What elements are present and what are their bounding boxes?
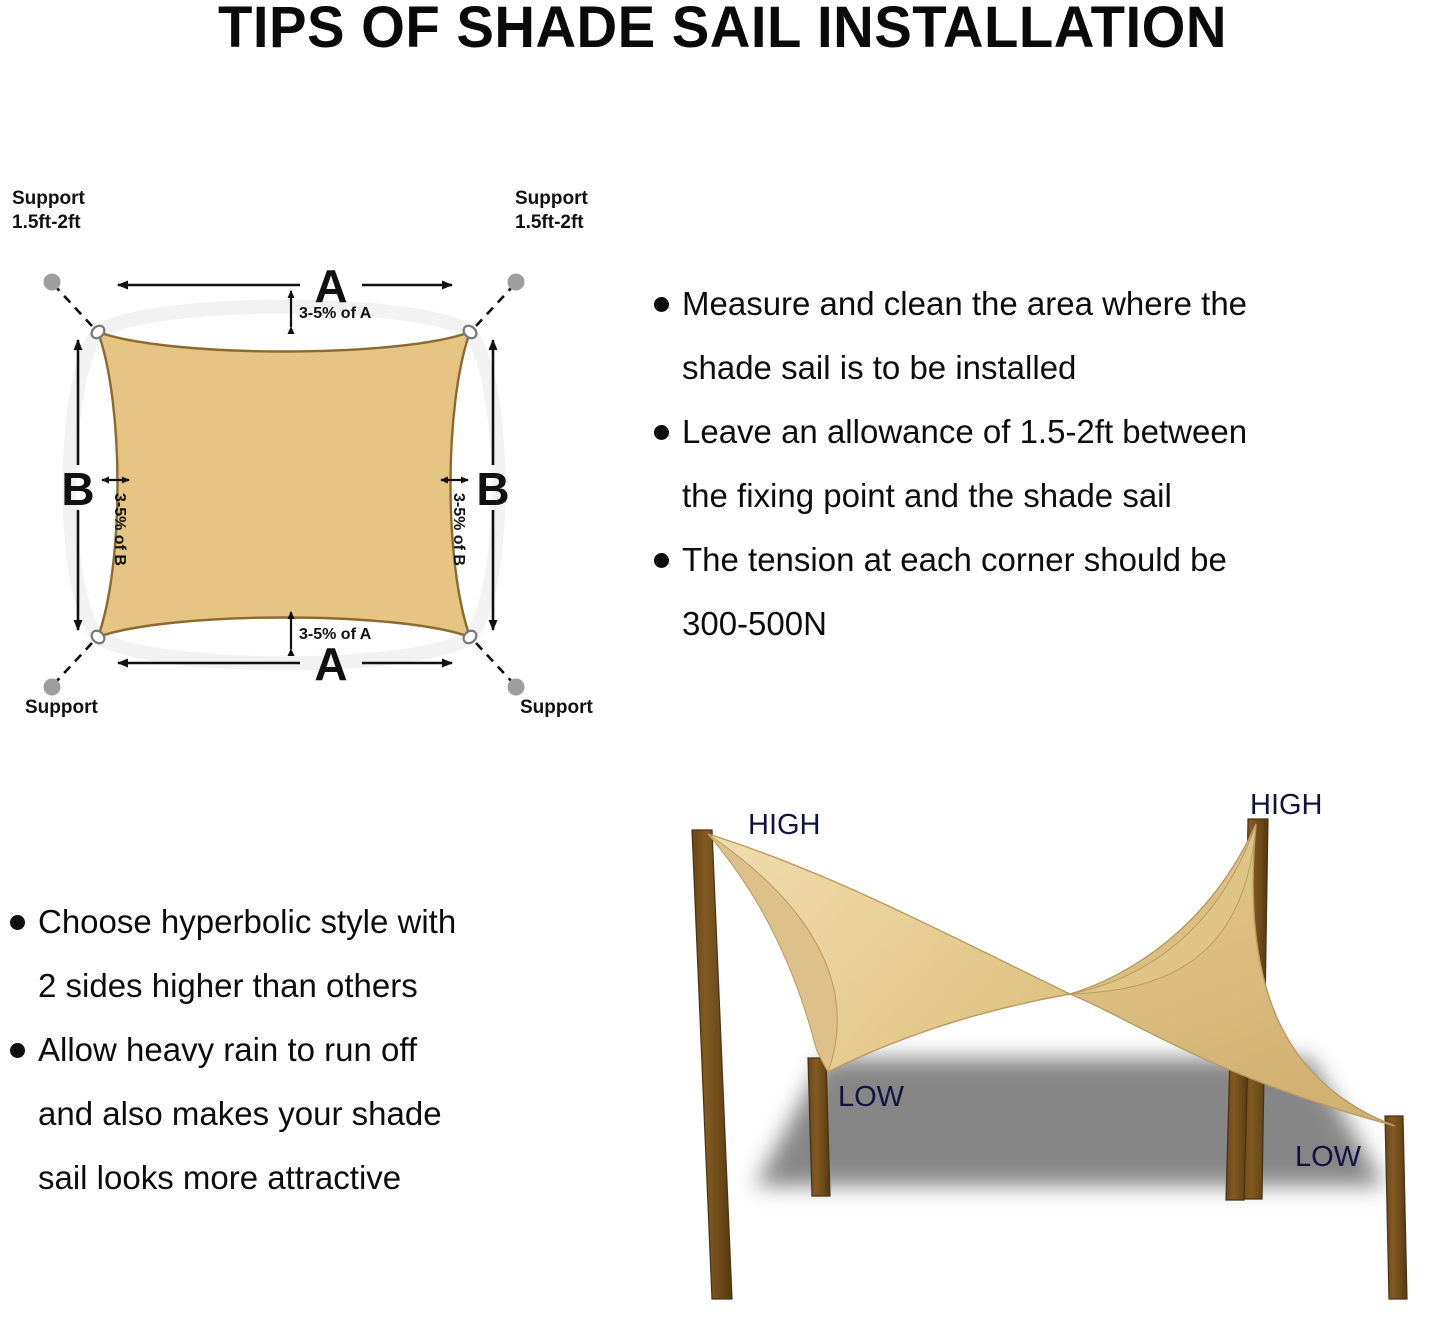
- support-dot-bottom-left: [44, 679, 61, 696]
- installation-tips-list: Measure and clean the area where the sha…: [648, 272, 1445, 656]
- support-top-right-line1: Support: [515, 188, 588, 209]
- tip-line: shade sail is to be installed: [682, 349, 1076, 386]
- tip-line: and also makes your shade: [38, 1095, 442, 1132]
- curvature-label-top: 3-5% of A: [299, 305, 372, 322]
- curvature-label-left: 3-5% of B: [111, 493, 128, 566]
- page-title: TIPS OF SHADE SAIL INSTALLATION: [22, 0, 1424, 60]
- list-item: The tension at each corner should be 300…: [648, 528, 1445, 656]
- list-item: Allow heavy rain to run off and also mak…: [4, 1018, 624, 1210]
- tip-line: The tension at each corner should be: [682, 541, 1227, 578]
- support-dot-bottom-right: [508, 679, 525, 696]
- tip-line: the fixing point and the shade sail: [682, 477, 1172, 514]
- tip-line: Allow heavy rain to run off: [38, 1031, 417, 1068]
- support-line-top-left: [54, 285, 92, 326]
- label-low-left: LOW: [838, 1081, 905, 1113]
- hyperbolic-tips-list: Choose hyperbolic style with 2 sides hig…: [4, 890, 624, 1210]
- tip-line: sail looks more attractive: [38, 1159, 401, 1196]
- support-bottom-left-line1: Support: [25, 697, 98, 718]
- curvature-label-bottom: 3-5% of A: [299, 626, 372, 643]
- curvature-label-right: 3-5% of B: [450, 493, 467, 566]
- support-line-top-right: [476, 285, 514, 326]
- tip-line: Leave an allowance of 1.5-2ft between: [682, 413, 1247, 450]
- sail-panel-left: [708, 834, 1070, 1072]
- dimension-label-B-right: B: [476, 463, 509, 515]
- list-item: Choose hyperbolic style with 2 sides hig…: [4, 890, 624, 1018]
- tip-line: Measure and clean the area where the: [682, 285, 1247, 322]
- label-high-left: HIGH: [748, 809, 821, 841]
- dimension-label-A-bottom: A: [314, 638, 347, 690]
- tip-line: 2 sides higher than others: [38, 967, 418, 1004]
- tip-line: Choose hyperbolic style with: [38, 903, 456, 940]
- support-line-bottom-left: [54, 643, 92, 684]
- label-low-right: LOW: [1295, 1141, 1362, 1173]
- pole-high-left: [692, 830, 732, 1299]
- support-dot-top-left: [44, 274, 61, 291]
- support-bottom-right-line1: Support: [520, 697, 593, 718]
- label-high-right: HIGH: [1250, 789, 1323, 821]
- support-line-bottom-right: [476, 643, 514, 684]
- shade-sail-shape: [98, 332, 470, 637]
- support-top-right-line2: 1.5ft-2ft: [515, 212, 584, 233]
- tip-line: 300-500N: [682, 605, 827, 642]
- support-top-left-line1: Support: [12, 188, 85, 209]
- pole-low-right: [1385, 1116, 1407, 1299]
- hyperbolic-sail-illustration: HIGH HIGH LOW LOW: [650, 786, 1445, 1319]
- pole-low-left: [808, 1058, 830, 1196]
- list-item: Measure and clean the area where the sha…: [648, 272, 1445, 400]
- dimension-label-B-left: B: [61, 463, 94, 515]
- list-item: Leave an allowance of 1.5-2ft between th…: [648, 400, 1445, 528]
- rectangular-sail-diagram: Support 1.5ft-2ft Support 1.5ft-2ft Supp…: [0, 160, 660, 720]
- support-dot-top-right: [508, 274, 525, 291]
- support-top-left-line2: 1.5ft-2ft: [12, 212, 81, 233]
